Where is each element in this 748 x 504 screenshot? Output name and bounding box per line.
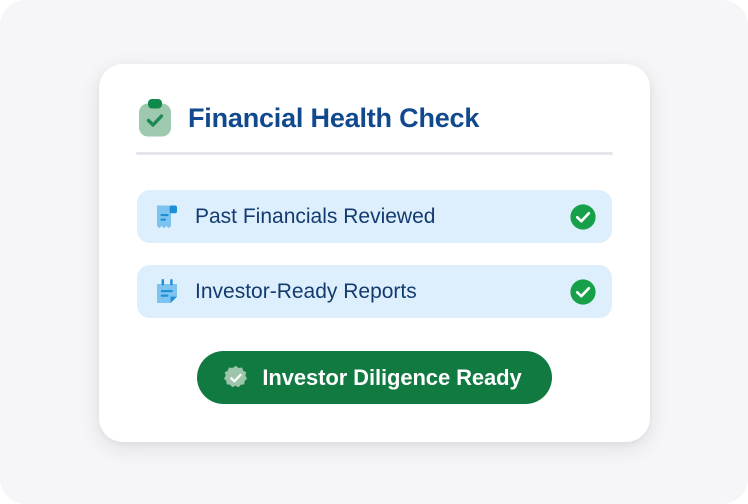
check-circle-icon	[569, 203, 597, 231]
clipboard-check-icon	[136, 98, 174, 138]
page-title: Financial Health Check	[188, 105, 479, 132]
page-background: Financial Health Check Past Financials R…	[0, 0, 748, 504]
list-item[interactable]: Past Financials Reviewed	[137, 190, 612, 243]
cta-label: Investor Diligence Ready	[262, 367, 521, 389]
checklist: Past Financials Reviewed Investor-Ready …	[137, 190, 612, 318]
financial-health-card: Financial Health Check Past Financials R…	[99, 64, 650, 442]
notepad-icon	[153, 277, 181, 307]
list-item-label: Investor-Ready Reports	[195, 281, 569, 302]
verified-badge-icon	[223, 365, 249, 391]
investor-diligence-ready-button[interactable]: Investor Diligence Ready	[197, 351, 551, 404]
receipt-icon	[153, 202, 181, 232]
list-item[interactable]: Investor-Ready Reports	[137, 265, 612, 318]
card-header: Financial Health Check	[136, 90, 479, 146]
check-circle-icon	[569, 278, 597, 306]
section-divider	[136, 152, 613, 155]
cta-container: Investor Diligence Ready	[99, 351, 650, 404]
list-item-label: Past Financials Reviewed	[195, 206, 569, 227]
